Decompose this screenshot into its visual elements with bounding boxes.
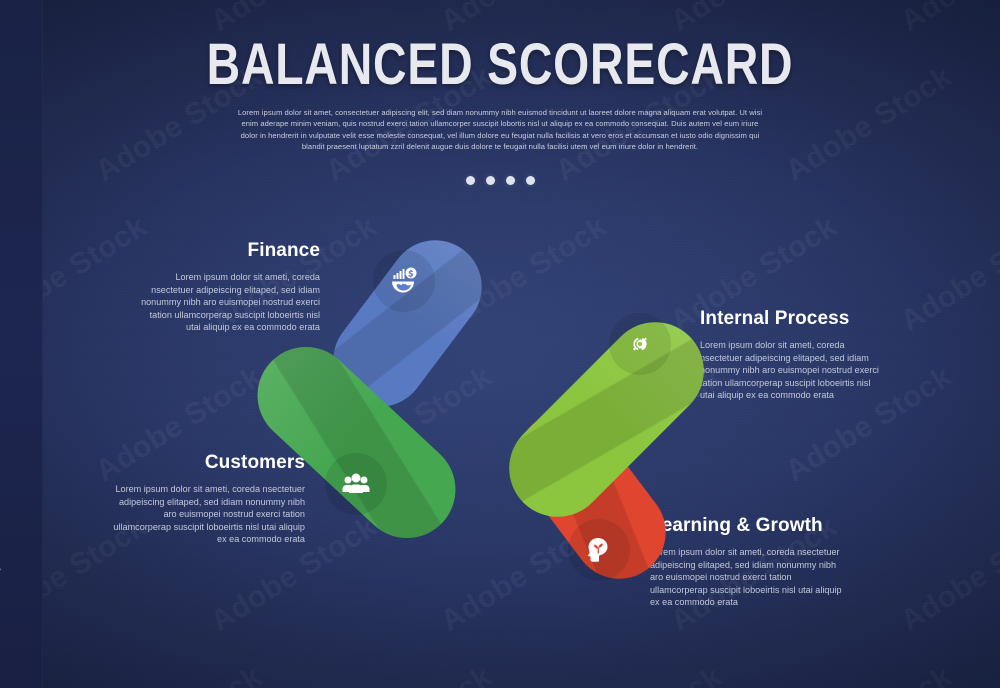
section-title-internal-process: Internal Process: [700, 308, 880, 330]
infographic-canvas: Adobe StockAdobe StockAdobe StockAdobe S…: [0, 0, 1000, 688]
finance-chart-coin-icon[interactable]: [373, 250, 435, 312]
section-finance: Finance Lorem ipsum dolor sit ameti, cor…: [140, 240, 320, 334]
section-learning-growth: Learning & Growth Lorem ipsum dolor sit …: [650, 515, 846, 609]
section-body-learning-growth: Lorem ipsum dolor sit ameti, coreda nsec…: [650, 546, 846, 609]
section-internal-process: Internal Process Lorem ipsum dolor sit a…: [700, 308, 880, 402]
section-title-customers: Customers: [105, 452, 305, 474]
section-body-finance: Lorem ipsum dolor sit ameti, coreda nsec…: [140, 271, 320, 334]
section-body-internal-process: Lorem ipsum dolor sit ameti, coreda nsec…: [700, 339, 880, 402]
section-body-customers: Lorem ipsum dolor sit ameti, coreda nsec…: [105, 483, 305, 546]
people-group-icon[interactable]: [325, 453, 387, 515]
section-title-finance: Finance: [140, 240, 320, 262]
head-sprout-icon[interactable]: [568, 519, 630, 581]
section-customers: Customers Lorem ipsum dolor sit ameti, c…: [105, 452, 305, 546]
gear-refresh-icon[interactable]: [609, 313, 671, 375]
section-title-learning-growth: Learning & Growth: [650, 515, 846, 537]
